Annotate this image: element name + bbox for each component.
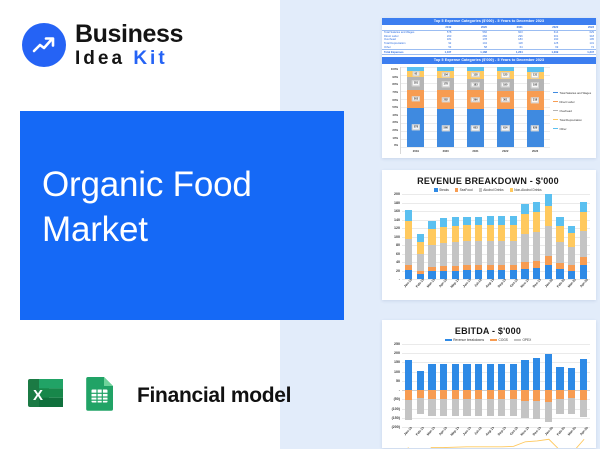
bar-segment (510, 216, 517, 225)
bar-column[interactable] (543, 344, 555, 427)
axis-tick: Jan-19 (402, 427, 414, 446)
bar-value-label: 104 (442, 72, 450, 77)
bar-segment (498, 270, 505, 279)
legend-swatch (490, 339, 497, 340)
bar-column[interactable]: 92181263578 (407, 67, 424, 147)
bar-segment (545, 226, 552, 256)
bar-segment (487, 270, 494, 279)
bar-positive (452, 364, 459, 390)
legend-swatch (553, 128, 558, 129)
legend-swatch (445, 339, 452, 340)
bar-segment (568, 226, 575, 234)
bar-segment: 125 (497, 71, 514, 79)
legend-item[interactable]: Alcohol Drinks (479, 188, 504, 192)
legend-swatch (553, 119, 558, 120)
legend-item[interactable]: Other (553, 127, 594, 131)
axis-tick-label: 40% (384, 113, 398, 117)
axis-tick-label: Mar-20 (567, 279, 577, 288)
bar-column[interactable] (450, 344, 462, 427)
bar-column[interactable] (438, 344, 450, 427)
bar-column[interactable] (426, 344, 438, 427)
bar-segment (452, 271, 459, 279)
bar-column[interactable] (508, 194, 520, 279)
bar-value-label: 566 (442, 125, 450, 130)
bar-segment: 578 (407, 108, 424, 148)
bar-value-label: 195 (531, 82, 539, 87)
axis-tick-label: 200 (394, 351, 400, 355)
bar-column[interactable] (566, 194, 578, 279)
axis-tick-label: 40 (396, 260, 400, 264)
expense-chart-title: Top 5 Expense Categories ($'000) - 5 Yea… (382, 57, 596, 64)
bar-negative-opex (475, 399, 482, 415)
axis-tick-label: Nov-19 (520, 427, 530, 437)
bar-segment (498, 241, 505, 265)
bar-segment (545, 206, 552, 227)
bar-segment (417, 234, 424, 242)
legend-item[interactable]: COGS (490, 338, 508, 342)
bar-column[interactable] (473, 194, 485, 279)
bar-positive (545, 354, 552, 390)
bar-segment: 603 (467, 109, 484, 147)
bar-column[interactable] (554, 344, 566, 427)
bar-segment (487, 241, 494, 265)
axis-tick: May-19 (449, 279, 461, 298)
bar-value-label: 629 (531, 126, 539, 131)
bar-segment (545, 265, 552, 279)
bar-column[interactable] (531, 194, 543, 279)
axis-tick-label: Jun-19 (461, 279, 471, 288)
ebitda-panel[interactable]: EBITDA - $'000 Revenue breakdownsCOGSOPE… (382, 320, 596, 448)
bar-segment (463, 241, 470, 265)
bar-segment (556, 226, 563, 242)
bar-negative-cogs (405, 390, 412, 400)
axis-tick: Sep-19 (496, 279, 508, 298)
bar-negative-cogs (463, 390, 470, 399)
bar-segment (545, 256, 552, 265)
axis-tick-label: 140 (394, 218, 400, 222)
table-cell: 1,347 (560, 50, 596, 55)
legend-item[interactable]: OPEX (514, 338, 531, 342)
axis-tick: Oct-19 (508, 427, 520, 446)
axis-tick-label: Oct-19 (509, 427, 519, 436)
bar-negative-cogs (533, 390, 540, 401)
axis-tick-label: 30% (384, 120, 398, 124)
axis-tick-label: 60% (384, 98, 398, 102)
bar-negative-cogs (510, 390, 517, 399)
axis-tick-label: Dec-19 (532, 279, 542, 288)
bar-positive (533, 358, 540, 390)
axis-tick: Mar-19 (426, 279, 438, 298)
bar-segment (428, 245, 435, 267)
brand-wordmark: Business Idea Kit (75, 22, 183, 68)
bar-segment (475, 225, 482, 241)
ebitda-chart-x-labels: Jan-19Feb-19Mar-19Apr-19May-19Jun-19Jul-… (402, 427, 590, 446)
bar-segment: 183 (467, 79, 484, 91)
legend-item[interactable]: SeaFood (455, 188, 473, 192)
legend-label: SeaFood (460, 188, 473, 192)
bar-negative-cogs (417, 390, 424, 398)
bar-column[interactable]: 125190301614 (497, 67, 514, 147)
bar-column[interactable] (450, 194, 462, 279)
bar-segment: 178 (437, 78, 454, 90)
bar-segment (533, 232, 540, 261)
legend-item[interactable]: Steaks (434, 188, 448, 192)
expense-chart-plot: 20192020202120222023 9218126357810417828… (400, 67, 550, 154)
bar-column[interactable] (473, 344, 485, 427)
brand-logo: Business Idea Kit (22, 22, 183, 68)
legend-label: COGS (499, 338, 508, 342)
bar-segment (580, 265, 587, 279)
bar-column[interactable] (496, 194, 508, 279)
axis-tick-label: 2020 (437, 149, 454, 153)
brand-line-2: Idea Kit (75, 49, 183, 68)
bar-value-label: 614 (501, 126, 509, 131)
bar-segment (580, 257, 587, 265)
bar-segment: 263 (407, 90, 424, 108)
bar-positive (510, 364, 517, 390)
revenue-chart-y-axis: 20018016014012010080604020- (386, 194, 402, 279)
bar-column[interactable] (519, 194, 531, 279)
bar-negative-cogs (487, 390, 494, 399)
expense-categories-panel[interactable]: Top 5 Expense Categories ($'000) - 5 Yea… (382, 18, 596, 158)
axis-tick-label: Jan-19 (403, 279, 413, 288)
bar-negative-cogs (580, 390, 587, 400)
bar-segment: 104 (437, 71, 454, 78)
bar-column[interactable] (461, 344, 473, 427)
bar-segment (498, 216, 505, 225)
bar-segment: 566 (437, 109, 454, 147)
bar-segment: 614 (497, 109, 514, 147)
axis-tick-label: Sep-19 (497, 427, 507, 436)
bar-column[interactable] (577, 344, 589, 427)
axis-tick: Jan-20 (543, 279, 555, 298)
trend-arrow-icon (22, 23, 66, 67)
bar-negative-opex (498, 399, 505, 415)
bar-segment (521, 214, 528, 234)
legend-label: Other (560, 127, 567, 131)
legend-item[interactable]: Overhead (553, 109, 594, 113)
table-cell: 1,299 (525, 50, 561, 55)
axis-tick-label: Feb-20 (555, 279, 565, 288)
bar-segment (405, 221, 412, 239)
bar-segment: 118 (467, 71, 484, 78)
axis-tick-label: Jun-19 (461, 427, 471, 436)
bar-negative-opex (568, 398, 575, 413)
bar-column[interactable] (566, 344, 578, 427)
axis-tick: Dec-19 (531, 279, 543, 298)
bar-value-label: 282 (442, 97, 450, 102)
bar-segment (475, 270, 482, 279)
bar-column[interactable] (484, 344, 496, 427)
expense-table: 20192020202120222023 Total Salaries and … (382, 26, 596, 55)
bar-segment (428, 229, 435, 244)
table-cell: 1,167 (418, 50, 454, 55)
bar-segment (568, 271, 575, 279)
axis-tick-label: - (399, 277, 400, 281)
bar-positive (463, 364, 470, 390)
bar-positive (556, 367, 563, 390)
bar-value-label: 92 (412, 71, 419, 76)
bar-segment: 296 (467, 90, 484, 109)
bar-positive (580, 359, 587, 390)
bar-positive (498, 364, 505, 390)
axis-tick-label: Jan-19 (403, 427, 413, 436)
bar-column[interactable] (461, 194, 473, 279)
revenue-breakdown-panel[interactable]: REVENUE BREAKDOWN - $'000 SteaksSeaFoodA… (382, 170, 596, 300)
bar-segment (475, 241, 482, 265)
bar-group (402, 194, 590, 279)
legend-label: Steaks (439, 188, 449, 192)
bar-column[interactable] (403, 344, 415, 427)
bar-column[interactable] (415, 194, 427, 279)
bar-segment (417, 242, 424, 255)
axis-tick-label: 180 (394, 201, 400, 205)
legend-label: Revenue breakdowns (453, 338, 484, 342)
bar-negative-cogs (440, 390, 447, 399)
axis-tick-label: Oct-19 (509, 279, 519, 288)
axis-tick-label: 0% (384, 143, 398, 147)
bar-segment (580, 231, 587, 257)
table-row-label: Total Expenses (382, 50, 418, 55)
axis-tick-label: Apr-20 (579, 427, 589, 436)
bar-column[interactable] (531, 344, 543, 427)
bar-negative-cogs (521, 390, 528, 401)
bar-value-label: 190 (501, 82, 509, 87)
legend-label: Total Depreciation (560, 118, 582, 122)
axis-tick: Feb-20 (555, 279, 567, 298)
bar-negative-opex (533, 401, 540, 418)
expense-table-title: Top 5 Expense Categories ($'000) - 5 Yea… (382, 18, 596, 25)
axis-tick: Apr-20 (578, 279, 590, 298)
bar-negative-opex (428, 399, 435, 415)
bar-segment (521, 269, 528, 279)
axis-tick: Jun-19 (461, 279, 473, 298)
axis-tick: Mar-20 (567, 427, 579, 446)
bar-column[interactable]: 118183296603 (467, 67, 484, 147)
legend-item[interactable]: Total Salaries and Wages (553, 91, 594, 95)
bar-column[interactable] (577, 194, 589, 279)
axis-tick-label: 20% (384, 128, 398, 132)
axis-tick: Mar-19 (426, 427, 438, 446)
axis-tick-label: Mar-20 (567, 427, 577, 436)
bar-segment (568, 233, 575, 247)
axis-tick-label: 80 (396, 243, 400, 247)
bar-value-label: 578 (412, 125, 420, 130)
bar-segment (487, 225, 494, 241)
axis-tick-label: 20 (396, 269, 400, 273)
bar-segment (440, 218, 447, 227)
axis-tick: Apr-19 (437, 279, 449, 298)
axis-tick-label: Feb-20 (555, 427, 565, 436)
axis-tick-label: Jul-19 (474, 427, 483, 436)
bar-column[interactable] (484, 194, 496, 279)
table-cell: 1,188 (453, 50, 489, 55)
expense-stacked-chart[interactable]: 100%90%80%70%60%50%40%30%20%10%0% 201920… (382, 64, 596, 156)
axis-tick: Apr-20 (578, 427, 590, 446)
ebitda-chart-legend: Revenue breakdownsCOGSOPEX (386, 338, 590, 342)
bar-segment (545, 194, 552, 205)
bar-segment (463, 225, 470, 241)
bar-segment (521, 204, 528, 214)
bar-segment (463, 270, 470, 279)
bar-segment: 301 (497, 91, 514, 110)
bar-value-label: 125 (501, 73, 509, 78)
axis-tick: Jan-20 (543, 427, 555, 446)
legend-swatch (514, 339, 521, 340)
bar-segment: 195 (527, 79, 544, 91)
bar-group (402, 344, 590, 427)
bar-segment: 282 (437, 90, 454, 109)
bar-segment: 181 (407, 77, 424, 89)
bar-negative-cogs (556, 390, 563, 398)
axis-tick: Feb-19 (414, 427, 426, 446)
bar-positive (440, 364, 447, 390)
axis-tick-label: Apr-19 (438, 279, 448, 288)
bar-negative-opex (510, 399, 517, 415)
axis-tick-label: Sep-19 (497, 279, 507, 288)
legend-label: Overhead (560, 109, 572, 113)
expense-chart-legend: Total Salaries and WagesDirect LaborOver… (550, 67, 594, 154)
bar-column[interactable]: 131195318629 (527, 67, 544, 147)
axis-tick-label: 70% (384, 90, 398, 94)
bar-negative-opex (556, 399, 563, 415)
axis-tick-label: Jan-20 (544, 427, 554, 436)
bar-negative-cogs (428, 390, 435, 399)
bar-segment (533, 268, 540, 279)
bar-segment: 318 (527, 91, 544, 110)
bar-negative-opex (521, 401, 528, 418)
bar-negative-opex (417, 398, 424, 414)
bar-segment (475, 217, 482, 225)
bar-positive (487, 364, 494, 390)
axis-tick-label: 2022 (497, 149, 514, 153)
bar-segment (405, 210, 412, 221)
axis-tick-label: 120 (394, 226, 400, 230)
bar-column[interactable] (426, 194, 438, 279)
bar-column[interactable] (554, 194, 566, 279)
expense-chart-y-axis: 100%90%80%70%60%50%40%30%20%10%0% (384, 67, 400, 154)
axis-tick-label: Mar-19 (426, 427, 436, 436)
financial-model-row: X Financial model (25, 372, 291, 419)
bar-column[interactable] (403, 194, 415, 279)
bar-value-label: 603 (471, 125, 479, 130)
axis-tick: Nov-19 (520, 427, 532, 446)
bar-value-label: 296 (471, 97, 479, 102)
bar-segment (440, 227, 447, 243)
bar-negative-opex (580, 400, 587, 417)
brand-line-1: Business (75, 22, 183, 47)
legend-label: Alcohol Drinks (483, 188, 503, 192)
axis-tick-label: 100 (394, 235, 400, 239)
bar-negative-opex (452, 399, 459, 415)
bar-segment (428, 271, 435, 279)
bar-value-label: 118 (471, 72, 479, 77)
bar-segment (521, 262, 528, 269)
bar-column[interactable] (438, 194, 450, 279)
axis-tick: Aug-19 (484, 279, 496, 298)
axis-tick-label: (200) (392, 425, 400, 429)
bar-segment (405, 270, 412, 279)
slide-canvas: Business Idea Kit Organic Food Market X (0, 0, 600, 449)
axis-tick-label: Aug-19 (485, 279, 495, 289)
axis-tick: Feb-20 (555, 427, 567, 446)
axis-tick-label: Aug-19 (485, 427, 495, 437)
axis-tick: Apr-19 (437, 427, 449, 446)
bar-negative-opex (405, 400, 412, 420)
legend-swatch (510, 188, 513, 191)
bar-value-label: 183 (471, 82, 479, 87)
bar-segment (487, 216, 494, 225)
bar-segment (428, 221, 435, 229)
bar-negative-opex (545, 402, 552, 422)
axis-tick-label: 80% (384, 82, 398, 86)
bar-column[interactable] (543, 194, 555, 279)
bar-negative-cogs (498, 390, 505, 399)
axis-tick: Jan-19 (402, 279, 414, 298)
revenue-chart-plot (402, 194, 590, 279)
axis-tick-label: 2023 (527, 149, 544, 153)
bar-column[interactable] (508, 344, 520, 427)
bar-column[interactable] (415, 344, 427, 427)
revenue-chart-x-labels: Jan-19Feb-19Mar-19Apr-19May-19Jun-19Jul-… (402, 279, 590, 298)
axis-tick-label: (50) (394, 397, 400, 401)
axis-tick-label: Jan-20 (544, 279, 554, 288)
axis-tick-label: 90% (384, 75, 398, 79)
axis-tick-label: 60 (396, 252, 400, 256)
axis-tick: Feb-19 (414, 279, 426, 298)
legend-swatch (553, 92, 558, 93)
axis-tick-label: 2019 (407, 149, 424, 153)
bar-column[interactable] (496, 344, 508, 427)
bar-segment (452, 242, 459, 266)
bar-segment (556, 217, 563, 226)
axis-tick: Oct-19 (508, 279, 520, 298)
axis-tick: Aug-19 (484, 427, 496, 446)
bar-segment (463, 217, 470, 225)
axis-tick: Jul-19 (473, 279, 485, 298)
axis-tick-label: May-19 (449, 279, 459, 289)
legend-label: OPEX (522, 338, 531, 342)
legend-item[interactable]: Total Depreciation (553, 118, 594, 122)
legend-item[interactable]: Direct Labor (553, 100, 594, 104)
axis-tick-label: - (399, 388, 400, 392)
bar-negative-opex (440, 399, 447, 415)
bar-segment (498, 225, 505, 241)
axis-tick: Sep-19 (496, 427, 508, 446)
legend-swatch (434, 188, 437, 191)
bar-value-label: 263 (412, 96, 420, 101)
table-cell: 1,264 (489, 50, 525, 55)
legend-label: Non-Alcohol Drinks (514, 188, 541, 192)
bar-column[interactable] (519, 344, 531, 427)
bar-segment: 190 (497, 79, 514, 91)
excel-file-icon: X (25, 372, 67, 419)
axis-tick-label: 100% (384, 67, 398, 71)
bar-column[interactable]: 104178282566 (437, 67, 454, 147)
bar-segment (521, 234, 528, 262)
bar-segment (510, 225, 517, 241)
table-row-label: Total Salaries and Wages (382, 30, 418, 34)
bar-negative-opex (463, 399, 470, 415)
axis-tick-label: Apr-20 (579, 279, 589, 288)
legend-item[interactable]: Non-Alcohol Drinks (510, 188, 542, 192)
legend-label: Total Salaries and Wages (560, 91, 592, 95)
axis-tick-label: Feb-19 (414, 279, 424, 288)
bar-value-label: 178 (442, 81, 450, 86)
bar-segment (580, 212, 587, 231)
bar-positive (475, 364, 482, 390)
legend-item[interactable]: Revenue breakdowns (445, 338, 484, 342)
